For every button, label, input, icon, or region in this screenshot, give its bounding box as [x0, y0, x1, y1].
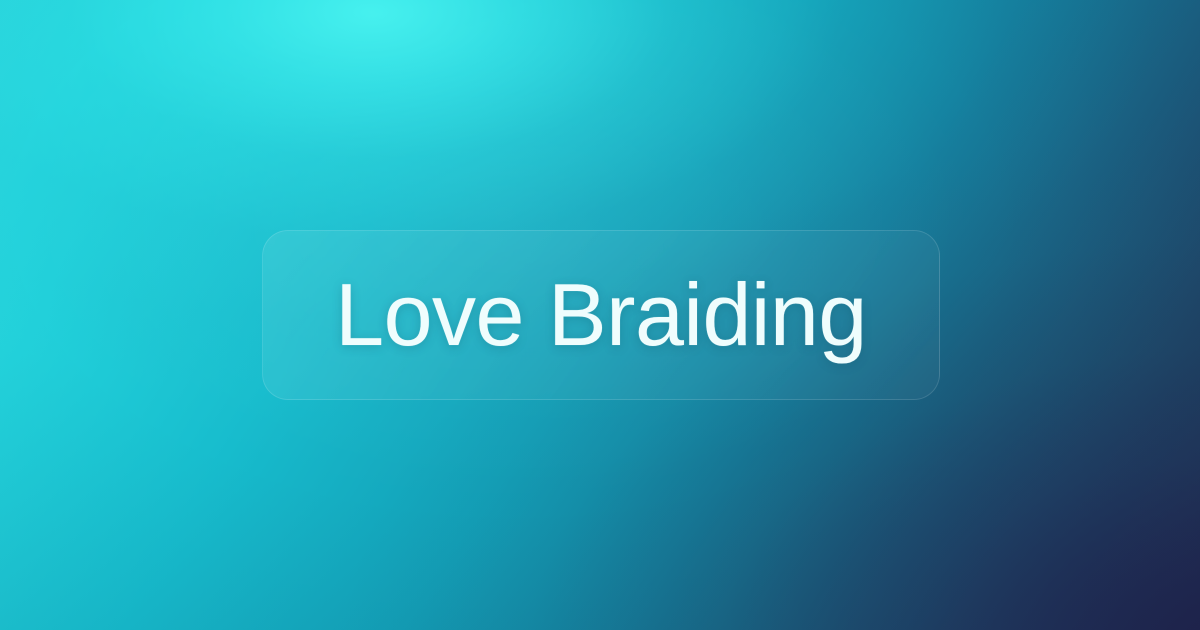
page-title: Love Braiding [335, 271, 867, 359]
title-card[interactable]: Love Braiding [262, 230, 940, 400]
share-card-canvas: Love Braiding [0, 0, 1200, 630]
